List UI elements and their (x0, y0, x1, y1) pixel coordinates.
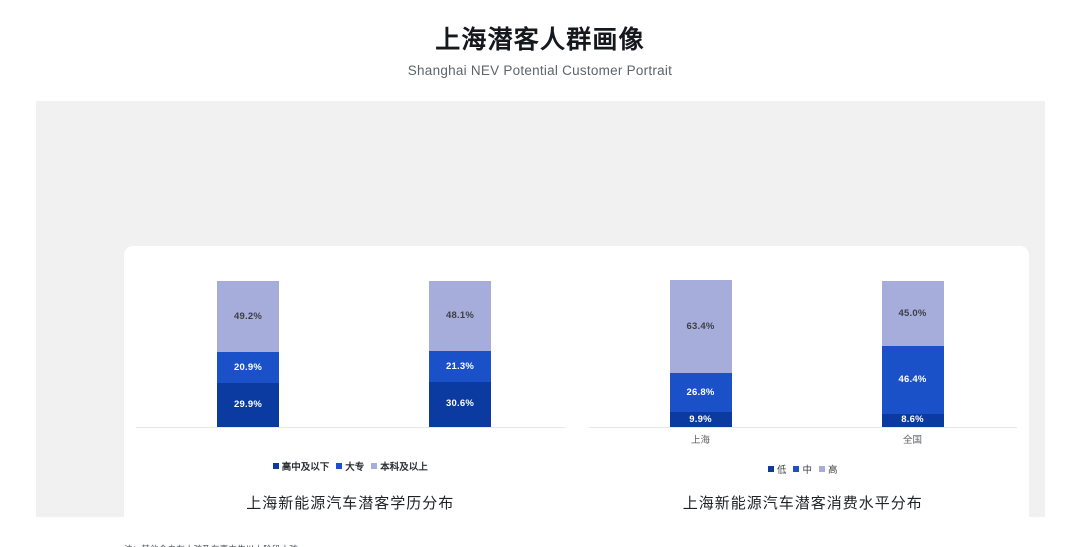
legend-item-高中及以下[interactable]: 高中及以下 (273, 459, 330, 473)
x-axis-line-consumption (589, 427, 1018, 429)
bar-segment-value: 46.4% (899, 375, 927, 385)
bar-segment-value: 26.8% (687, 388, 715, 398)
bar-segment-value: 63.4% (687, 322, 715, 332)
legend-item-大专[interactable]: 大专 (336, 459, 364, 473)
bar-segment-value: 29.9% (234, 400, 262, 410)
x-tick-labels-consumption: 上海 全国 (577, 432, 1030, 450)
x-tick-label: 全国 (882, 432, 944, 446)
legend-item-中[interactable]: 中 (793, 462, 812, 476)
bar-segment-高[interactable]: 63.4% (670, 280, 732, 373)
table-row[interactable]: 48.1%21.3%30.6% (429, 281, 491, 427)
legend-consumption: 低中高 (577, 462, 1030, 476)
gray-backdrop-panel: 49.2%20.9%29.9% 48.1%21.3%30.6% 高中及以下大专本… (36, 101, 1045, 517)
bar-segment-value: 8.6% (901, 415, 923, 425)
bar-segment-value: 20.9% (234, 363, 262, 373)
legend-label: 中 (802, 462, 812, 476)
legend-swatch-icon (336, 463, 342, 469)
bar-segment-value: 45.0% (899, 309, 927, 319)
bar-segment-value: 48.1% (446, 311, 474, 321)
legend-label: 大专 (345, 459, 364, 473)
legend-label: 高中及以下 (282, 459, 330, 473)
legend-swatch-icon (768, 466, 774, 472)
chart-education: 49.2%20.9%29.9% 48.1%21.3%30.6% 高中及以下大专本… (124, 246, 577, 506)
legend-item-本科及以上[interactable]: 本科及以上 (371, 459, 428, 473)
plot-area-consumption: 63.4%26.8%9.9% 45.0%46.4%8.6% (577, 282, 1030, 428)
bar-segment-value: 21.3% (446, 362, 474, 372)
legend-education: 高中及以下大专本科及以上 (124, 459, 577, 473)
page-root: 上海潜客人群画像 Shanghai NEV Potential Customer… (0, 0, 1080, 547)
bar-segment-低[interactable]: 8.6% (882, 414, 944, 427)
legend-swatch-icon (273, 463, 279, 469)
bar-segment-本科及以上[interactable]: 48.1% (429, 281, 491, 351)
x-tick-label: 上海 (670, 432, 732, 446)
bar-segment-value: 9.9% (689, 415, 711, 425)
page-header: 上海潜客人群画像 Shanghai NEV Potential Customer… (0, 0, 1080, 78)
table-row[interactable]: 45.0%46.4%8.6% (882, 281, 944, 427)
bar-segment-低[interactable]: 9.9% (670, 412, 732, 426)
bar-segment-本科及以上[interactable]: 49.2% (217, 281, 279, 353)
table-row[interactable]: 49.2%20.9%29.9% (217, 281, 279, 427)
page-title: 上海潜客人群画像 (0, 26, 1080, 55)
footnote-text: 注：其他含未有小孩及有高中生以上阶段小孩 (124, 543, 298, 547)
x-axis-line-education (136, 427, 565, 429)
bar-segment-大专[interactable]: 21.3% (429, 351, 491, 382)
legend-swatch-icon (819, 466, 825, 472)
chart-caption-consumption: 上海新能源汽车潜客消费水平分布 (577, 492, 1030, 513)
page-subtitle: Shanghai NEV Potential Customer Portrait (0, 63, 1080, 78)
plot-area-education: 49.2%20.9%29.9% 48.1%21.3%30.6% (124, 282, 577, 428)
legend-swatch-icon (371, 463, 377, 469)
legend-label: 低 (777, 462, 787, 476)
chart-caption-education: 上海新能源汽车潜客学历分布 (124, 492, 577, 513)
bar-segment-value: 49.2% (234, 312, 262, 322)
bar-segment-value: 30.6% (446, 399, 474, 409)
charts-container: 49.2%20.9%29.9% 48.1%21.3%30.6% 高中及以下大专本… (124, 246, 1029, 506)
chart-consumption: 63.4%26.8%9.9% 45.0%46.4%8.6% 上海 全国 低中高 … (577, 246, 1030, 506)
table-row[interactable]: 63.4%26.8%9.9% (670, 280, 732, 426)
bar-segment-高中及以下[interactable]: 30.6% (429, 382, 491, 427)
bar-segment-高[interactable]: 45.0% (882, 281, 944, 347)
legend-swatch-icon (793, 466, 799, 472)
bar-segment-中[interactable]: 26.8% (670, 373, 732, 412)
bar-segment-高中及以下[interactable]: 29.9% (217, 383, 279, 427)
legend-label: 本科及以上 (380, 459, 428, 473)
chart-card: 49.2%20.9%29.9% 48.1%21.3%30.6% 高中及以下大专本… (124, 246, 1029, 547)
legend-label: 高 (828, 462, 838, 476)
bar-segment-中[interactable]: 46.4% (882, 346, 944, 414)
legend-item-低[interactable]: 低 (768, 462, 787, 476)
bar-segment-大专[interactable]: 20.9% (217, 352, 279, 383)
legend-item-高[interactable]: 高 (819, 462, 838, 476)
